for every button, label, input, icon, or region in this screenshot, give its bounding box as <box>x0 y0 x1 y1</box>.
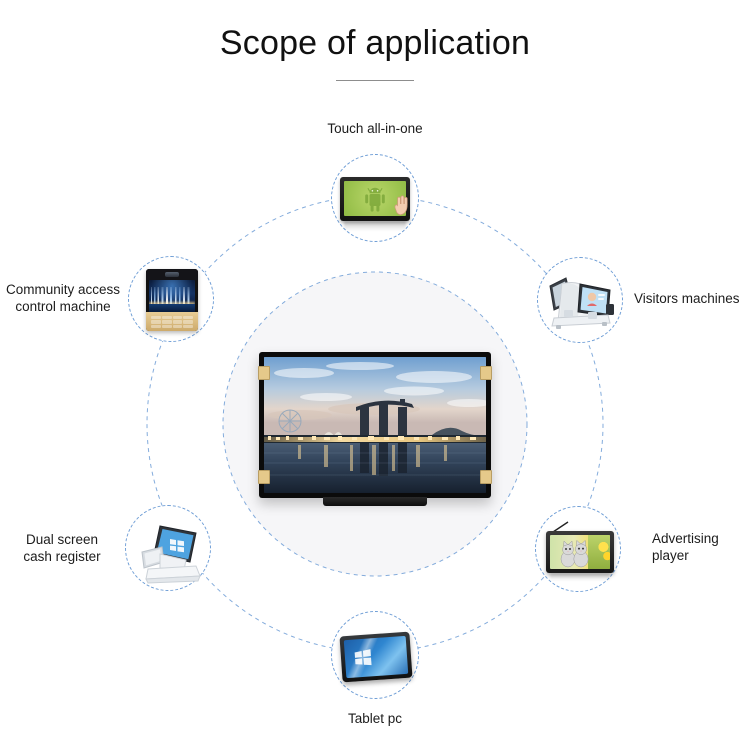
marina-bay-skyline-photo <box>264 357 486 493</box>
visitors-machine-artwork <box>538 258 622 342</box>
keypad-keys[interactable] <box>151 316 193 328</box>
panel-stand <box>323 497 427 506</box>
node-dual-screen-cash-register[interactable] <box>125 505 211 591</box>
label-community-access-control-machine: Community access control machine <box>0 281 126 315</box>
access-control-device <box>146 269 198 331</box>
label-touch-all-in-one: Touch all-in-one <box>0 120 750 137</box>
label-visitors-machines: Visitors machines <box>634 290 750 307</box>
lcd-screen-image <box>264 357 486 493</box>
panel-connector-top-right <box>480 366 492 380</box>
two-kittens <box>550 535 610 569</box>
kitten-wallpaper-screen <box>550 535 610 569</box>
node-touch-all-in-one[interactable] <box>331 154 419 242</box>
panel-connector-bottom-left <box>258 470 270 484</box>
city-skyline-screen <box>149 280 195 312</box>
infographic-stage: Scope of application <box>0 0 750 750</box>
pointing-hand-icon <box>388 193 414 219</box>
node-community-access-control-machine[interactable] <box>128 256 214 342</box>
display-body <box>546 531 614 573</box>
windows-desktop-screen <box>344 636 408 678</box>
label-tablet-pc: Tablet pc <box>0 710 750 727</box>
display-reflection <box>550 573 610 581</box>
tablet-body <box>339 632 412 683</box>
panel-connector-bottom-right <box>480 470 492 484</box>
device-top-bar <box>146 269 198 280</box>
lcd-display-panel[interactable] <box>259 352 491 498</box>
label-dual-screen-cash-register: Dual screen cash register <box>4 531 120 565</box>
camera-lens-icon <box>165 272 179 277</box>
water-reflection <box>149 304 195 312</box>
touch-all-in-one-artwork <box>332 155 418 241</box>
pos-terminal-device <box>134 516 208 584</box>
gold-keypad[interactable] <box>146 312 198 331</box>
tablet-pc-artwork <box>332 612 418 698</box>
visitor-kiosk-device <box>544 272 620 330</box>
panel-connector-top-left <box>258 366 270 380</box>
label-advertising-player: Advertising player <box>652 530 750 564</box>
access-control-artwork <box>129 257 213 341</box>
node-visitors-machines[interactable] <box>537 257 623 343</box>
android-robot-icon <box>362 185 388 213</box>
cash-register-artwork <box>126 506 210 590</box>
node-tablet-pc[interactable] <box>331 611 419 699</box>
node-advertising-player[interactable] <box>535 506 621 592</box>
advertising-player-artwork <box>536 507 620 591</box>
tablet-reflection <box>344 221 406 231</box>
